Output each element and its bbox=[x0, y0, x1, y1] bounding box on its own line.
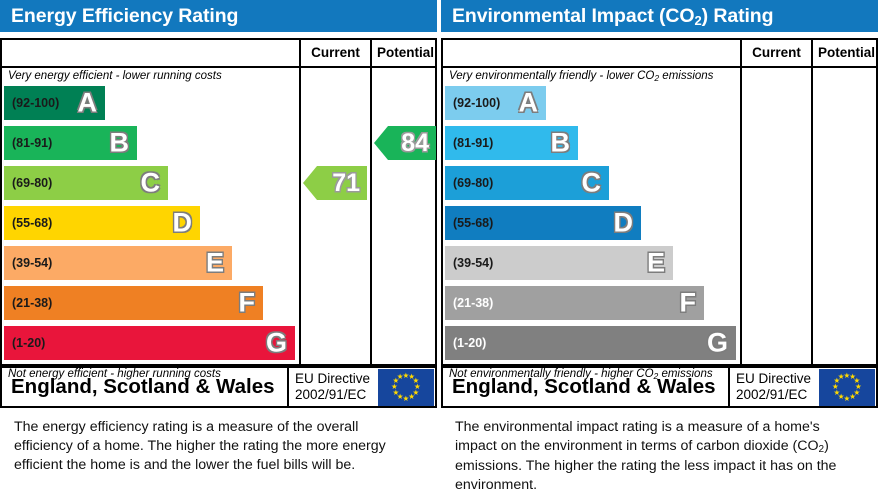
band-letter-f: F bbox=[680, 290, 697, 317]
explanation-pre: The environmental impact rating is a mea… bbox=[455, 419, 820, 454]
band-f: (21-38)F bbox=[4, 286, 263, 320]
band-f: (21-38)F bbox=[445, 286, 704, 320]
energy-footer-directive: EU Directive 2002/91/EC bbox=[289, 371, 378, 403]
environment-explanation: The environmental impact rating is a mea… bbox=[455, 418, 855, 493]
band-b: (81-91)B bbox=[445, 126, 578, 160]
band-range-label: (21-38) bbox=[453, 296, 493, 310]
current-rating-value: 71 bbox=[332, 171, 360, 196]
co2-subscript: 2 bbox=[694, 13, 701, 28]
band-range-label: (55-68) bbox=[12, 216, 52, 230]
band-range-label: (39-54) bbox=[453, 256, 493, 270]
directive-line-1: EU Directive bbox=[295, 371, 378, 387]
band-range-label: (69-80) bbox=[453, 176, 493, 190]
caption-top-pre: Very environmentally friendly - lower CO bbox=[449, 70, 654, 82]
environmental-impact-panel: Environmental Impact (CO2) Rating Curren… bbox=[441, 0, 878, 493]
directive-line-1: EU Directive bbox=[736, 371, 819, 387]
band-g: (1-20)G bbox=[445, 326, 736, 360]
band-range-label: (92-100) bbox=[12, 96, 59, 110]
caption-top-post: emissions bbox=[659, 70, 713, 82]
band-d: (55-68)D bbox=[445, 206, 641, 240]
co2-subscript: 2 bbox=[654, 73, 659, 83]
energy-header-current: Current bbox=[301, 40, 370, 66]
environmental-impact-title-tail: ) Rating bbox=[702, 5, 774, 27]
band-letter-c: C bbox=[141, 170, 161, 197]
band-letter-d: D bbox=[173, 210, 193, 237]
energy-efficiency-table: Current Potential Very energy efficient … bbox=[0, 38, 437, 366]
energy-efficiency-title-text: Energy Efficiency Rating bbox=[11, 5, 238, 27]
band-letter-a: A bbox=[519, 90, 539, 117]
environmental-impact-table: Current Potential Very environmentally f… bbox=[441, 38, 878, 366]
band-letter-e: E bbox=[647, 250, 665, 277]
column-divider-current bbox=[299, 40, 301, 364]
band-letter-a: A bbox=[78, 90, 98, 117]
band-range-label: (69-80) bbox=[12, 176, 52, 190]
band-letter-e: E bbox=[206, 250, 224, 277]
epc-rating-graphs: Energy Efficiency Rating Current Potenti… bbox=[0, 0, 880, 493]
band-range-label: (81-91) bbox=[12, 136, 52, 150]
environmental-impact-title: Environmental Impact (CO2) Rating bbox=[441, 0, 878, 32]
band-c: (69-80)C bbox=[4, 166, 168, 200]
column-divider-potential bbox=[811, 40, 813, 364]
energy-efficiency-title: Energy Efficiency Rating bbox=[0, 0, 437, 32]
energy-caption-top: Very energy efficient - lower running co… bbox=[8, 70, 222, 82]
energy-footer-region: England, Scotland & Wales bbox=[2, 375, 287, 399]
band-letter-d: D bbox=[614, 210, 634, 237]
band-e: (39-54)E bbox=[4, 246, 232, 280]
energy-header-potential: Potential bbox=[372, 40, 439, 66]
energy-efficiency-panel: Energy Efficiency Rating Current Potenti… bbox=[0, 0, 437, 493]
band-range-label: (21-38) bbox=[12, 296, 52, 310]
environment-header-potential: Potential bbox=[813, 40, 880, 66]
band-g: (1-20)G bbox=[4, 326, 295, 360]
band-range-label: (1-20) bbox=[12, 336, 45, 350]
environment-header-current: Current bbox=[742, 40, 811, 66]
environment-footer-directive: EU Directive 2002/91/EC bbox=[730, 371, 819, 403]
band-a: (92-100)A bbox=[445, 86, 546, 120]
band-range-label: (81-91) bbox=[453, 136, 493, 150]
energy-explanation: The energy efficiency rating is a measur… bbox=[14, 418, 414, 475]
environmental-impact-title-text: Environmental Impact (CO bbox=[452, 5, 694, 27]
environment-caption-top: Very environmentally friendly - lower CO… bbox=[449, 70, 713, 82]
band-c: (69-80)C bbox=[445, 166, 609, 200]
directive-line-2: 2002/91/EC bbox=[295, 387, 378, 403]
potential-rating-value: 84 bbox=[401, 131, 429, 156]
co2-subscript: 2 bbox=[819, 444, 825, 455]
energy-footer: England, Scotland & Wales EU Directive 2… bbox=[0, 366, 437, 408]
band-range-label: (39-54) bbox=[12, 256, 52, 270]
band-letter-g: G bbox=[707, 330, 728, 357]
band-letter-c: C bbox=[582, 170, 602, 197]
band-range-label: (1-20) bbox=[453, 336, 486, 350]
column-divider-potential bbox=[370, 40, 372, 364]
band-b: (81-91)B bbox=[4, 126, 137, 160]
band-e: (39-54)E bbox=[445, 246, 673, 280]
current-rating-arrow: 71 bbox=[303, 166, 367, 200]
eu-flag-icon: ★★★★★★★★★★★★ bbox=[819, 369, 875, 406]
eu-star-icon: ★ bbox=[838, 373, 846, 381]
band-letter-b: B bbox=[110, 130, 130, 157]
directive-line-2: 2002/91/EC bbox=[736, 387, 819, 403]
band-range-label: (92-100) bbox=[453, 96, 500, 110]
band-letter-b: B bbox=[551, 130, 571, 157]
band-letter-g: G bbox=[266, 330, 287, 357]
band-range-label: (55-68) bbox=[453, 216, 493, 230]
potential-rating-arrow: 84 bbox=[374, 126, 436, 160]
environment-footer: England, Scotland & Wales EU Directive 2… bbox=[441, 366, 878, 408]
environment-footer-region: England, Scotland & Wales bbox=[443, 375, 728, 399]
band-a: (92-100)A bbox=[4, 86, 105, 120]
eu-star-icon: ★ bbox=[397, 373, 405, 381]
band-letter-f: F bbox=[239, 290, 256, 317]
column-divider-current bbox=[740, 40, 742, 364]
eu-flag-icon: ★★★★★★★★★★★★ bbox=[378, 369, 434, 406]
band-d: (55-68)D bbox=[4, 206, 200, 240]
